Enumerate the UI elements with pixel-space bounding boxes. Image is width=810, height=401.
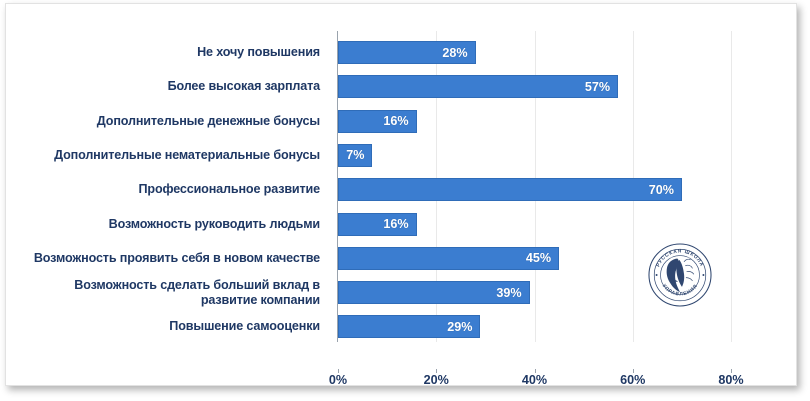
bar[interactable]: 7%: [338, 144, 372, 167]
category-label: Возможность руководить людьми: [16, 213, 328, 236]
value-axis-tick-label: 0%: [308, 373, 368, 387]
bar-row[interactable]: 57%: [338, 75, 792, 98]
category-label: Повышение самооценки: [16, 315, 328, 338]
chart-card: Не хочу повышенияБолее высокая зарплатаД…: [5, 3, 797, 386]
bar-value-label: 7%: [346, 148, 371, 162]
value-axis-tick-label: 20%: [406, 373, 466, 387]
bar-value-label: 57%: [585, 80, 617, 94]
category-label: Возможность сделать больший вклад в разв…: [16, 281, 328, 304]
bar-row[interactable]: 70%: [338, 178, 792, 201]
bar-row[interactable]: 45%: [338, 247, 792, 270]
category-label: Возможность проявить себя в новом качест…: [16, 247, 328, 270]
bar-value-label: 16%: [383, 217, 415, 231]
plot-inner: 28%57%16%7%70%16%45%39%29%: [332, 31, 792, 342]
bar[interactable]: 39%: [338, 281, 530, 304]
bar-row[interactable]: 7%: [338, 144, 792, 167]
russian-school-of-management-logo: РУССКАЯ ШКОЛА УПРАВЛЕНИЯ: [647, 242, 713, 308]
bar-value-label: 39%: [496, 286, 528, 300]
bar-row[interactable]: 29%: [338, 315, 792, 338]
bar-row[interactable]: 16%: [338, 213, 792, 236]
category-label: Дополнительные нематериальные бонусы: [16, 144, 328, 167]
bar-value-label: 28%: [442, 46, 474, 60]
bar-value-label: 16%: [383, 114, 415, 128]
bar[interactable]: 29%: [338, 315, 480, 338]
value-axis-tick-label: 40%: [505, 373, 565, 387]
bar[interactable]: 16%: [338, 110, 417, 133]
bar[interactable]: 70%: [338, 178, 682, 201]
bar-value-label: 70%: [649, 183, 681, 197]
value-axis-tick-label: 60%: [603, 373, 663, 387]
category-label: Дополнительные денежные бонусы: [16, 110, 328, 133]
bar-row[interactable]: 28%: [338, 41, 792, 64]
category-label: Более высокая зарплата: [16, 75, 328, 98]
bar-value-label: 45%: [526, 251, 558, 265]
bar-row[interactable]: 39%: [338, 281, 792, 304]
plot-area: 28%57%16%7%70%16%45%39%29% 0%20%40%60%80…: [332, 31, 792, 342]
bar[interactable]: 16%: [338, 213, 417, 236]
category-label: Не хочу повышения: [16, 41, 328, 64]
value-axis-tick-label: 80%: [701, 373, 761, 387]
horizontal-bar-chart: Не хочу повышенияБолее высокая зарплатаД…: [6, 4, 796, 385]
svg-text:УПРАВЛЕНИЯ: УПРАВЛЕНИЯ: [661, 283, 700, 297]
bar[interactable]: 45%: [338, 247, 559, 270]
bar[interactable]: 57%: [338, 75, 618, 98]
bar[interactable]: 28%: [338, 41, 476, 64]
bar-row[interactable]: 16%: [338, 110, 792, 133]
category-label: Профессиональное развитие: [16, 178, 328, 201]
bar-value-label: 29%: [447, 320, 479, 334]
